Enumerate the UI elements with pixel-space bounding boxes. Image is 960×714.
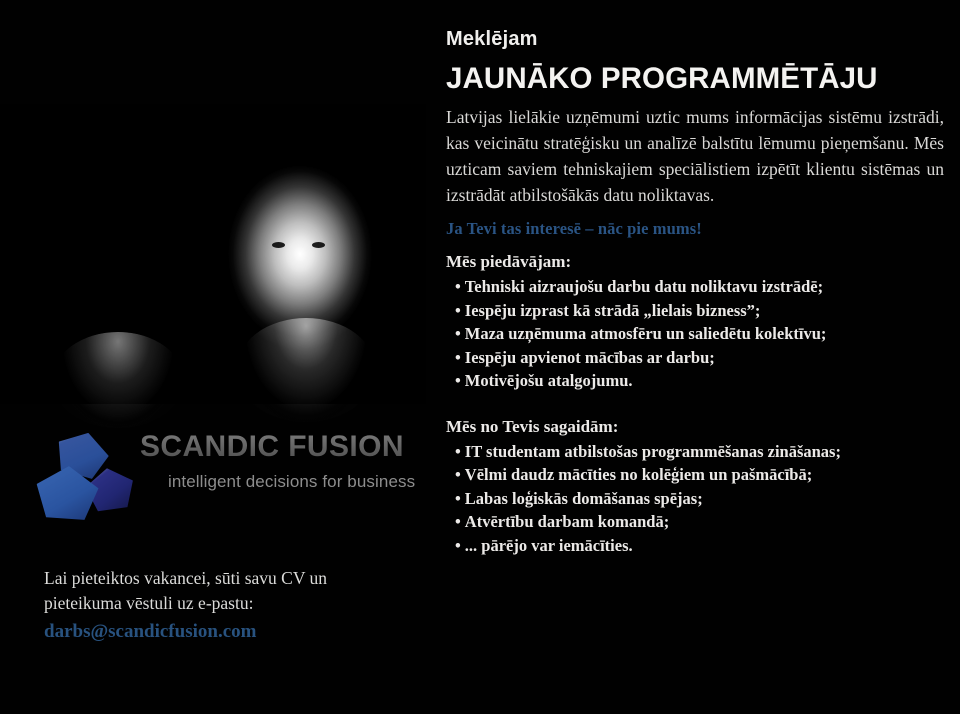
contact-instructions-line-2: pieteikuma vēstuli uz e-pastu: (44, 593, 253, 613)
offer-heading: Mēs piedāvājam: (446, 250, 944, 274)
pentagon-logo-icon (34, 432, 138, 518)
list-item: Tehniski aizraujošu darbu datu noliktavu… (446, 275, 944, 299)
eyebrow-label: Meklējam (446, 28, 944, 51)
requirements-heading: Mēs no Tevis sagaidām: (446, 415, 944, 439)
portrait-woman (52, 332, 184, 428)
requirements-list: IT studentam atbilstošas programmēšanas … (446, 440, 944, 558)
portrait-woman-eye-left (86, 260, 99, 266)
list-item: Iespēju apvienot mācības ar darbu; (446, 346, 944, 370)
portrait-man-eye-right (312, 242, 325, 248)
call-to-action-text: Ja Tevi tas interesē – nāc pie mums! (446, 219, 944, 239)
portrait-photo (0, 104, 426, 404)
company-tagline: intelligent decisions for business (168, 472, 415, 492)
offer-list: Tehniski aizraujošu darbu datu noliktavu… (446, 275, 944, 393)
company-logo: SCANDIC FUSION intelligent decisions for… (22, 424, 422, 520)
list-item: Vēlmi daudz mācīties no kolēģiem un pašm… (446, 463, 944, 487)
list-item: Maza uzņēmuma atmosfēru un saliedētu kol… (446, 322, 944, 346)
list-item: Labas loģiskās domāšanas spējas; (446, 487, 944, 511)
list-item: IT studentam atbilstošas programmēšanas … (446, 440, 944, 464)
list-item: Iespēju izprast kā strādā „lielais bizne… (446, 299, 944, 323)
requirements-section: Mēs no Tevis sagaidām: IT studentam atbi… (446, 415, 944, 558)
contact-block: Lai pieteiktos vakancei, sūti savu CV un… (44, 566, 374, 644)
page-title: JAUNĀKO PROGRAMMĒTĀJU (446, 62, 944, 96)
intro-paragraph: Latvijas lielākie uzņēmumi uztic mums in… (446, 104, 944, 208)
portrait-man-eye-left (272, 242, 285, 248)
company-name: SCANDIC FUSION (140, 430, 404, 464)
portrait-man (236, 318, 376, 422)
job-advertisement-poster: SCANDIC FUSION intelligent decisions for… (0, 0, 960, 714)
right-column: Meklējam JAUNĀKO PROGRAMMĒTĀJU Latvijas … (446, 0, 944, 714)
contact-email-link[interactable]: darbs@scandicfusion.com (44, 619, 374, 644)
left-column: SCANDIC FUSION intelligent decisions for… (0, 0, 440, 714)
list-item: Motivējošu atalgojumu. (446, 369, 944, 393)
contact-instructions-line-1: Lai pieteiktos vakancei, sūti savu CV un (44, 568, 327, 588)
portrait-woman-eye-right (122, 260, 135, 266)
list-item: Atvērtību darbam komandā; (446, 510, 944, 534)
list-item: ... pārējo var iemācīties. (446, 534, 944, 558)
offer-section: Mēs piedāvājam: Tehniski aizraujošu darb… (446, 250, 944, 393)
